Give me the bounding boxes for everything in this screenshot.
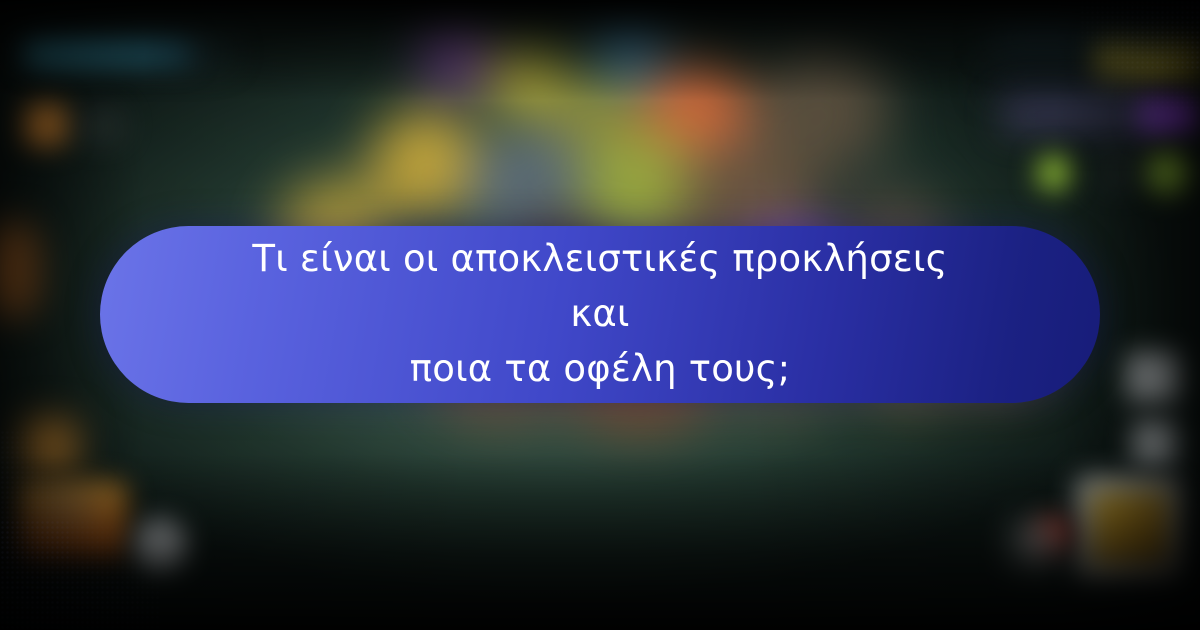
page-title: Τι είναι οι αποκλειστικές προκλήσεις και… bbox=[150, 232, 1050, 396]
side-button-upper bbox=[1128, 352, 1180, 402]
halftone-left-mid bbox=[0, 430, 70, 560]
gem-orb-green-right bbox=[1148, 152, 1190, 194]
side-button-lower bbox=[1134, 420, 1178, 466]
event-card-gold bbox=[1092, 492, 1170, 566]
mini-button-white bbox=[1018, 528, 1052, 562]
left-edge-building-glow bbox=[0, 222, 36, 318]
title-pill: Τι είναι οι αποκλειστικές προκλήσεις και… bbox=[100, 226, 1100, 403]
progress-bar-track bbox=[24, 40, 229, 62]
building-blob bbox=[420, 20, 490, 90]
building-blob bbox=[370, 110, 480, 220]
gem-count-text bbox=[1104, 166, 1136, 178]
halftone-top-right-gold bbox=[1070, 30, 1200, 110]
gem-orb-green-left bbox=[1036, 155, 1072, 191]
resource-icon-gold bbox=[22, 103, 66, 147]
resource-amount-text bbox=[82, 118, 118, 132]
social-share-card: Τι είναι οι αποκλειστικές προκλήσεις και… bbox=[0, 0, 1200, 630]
